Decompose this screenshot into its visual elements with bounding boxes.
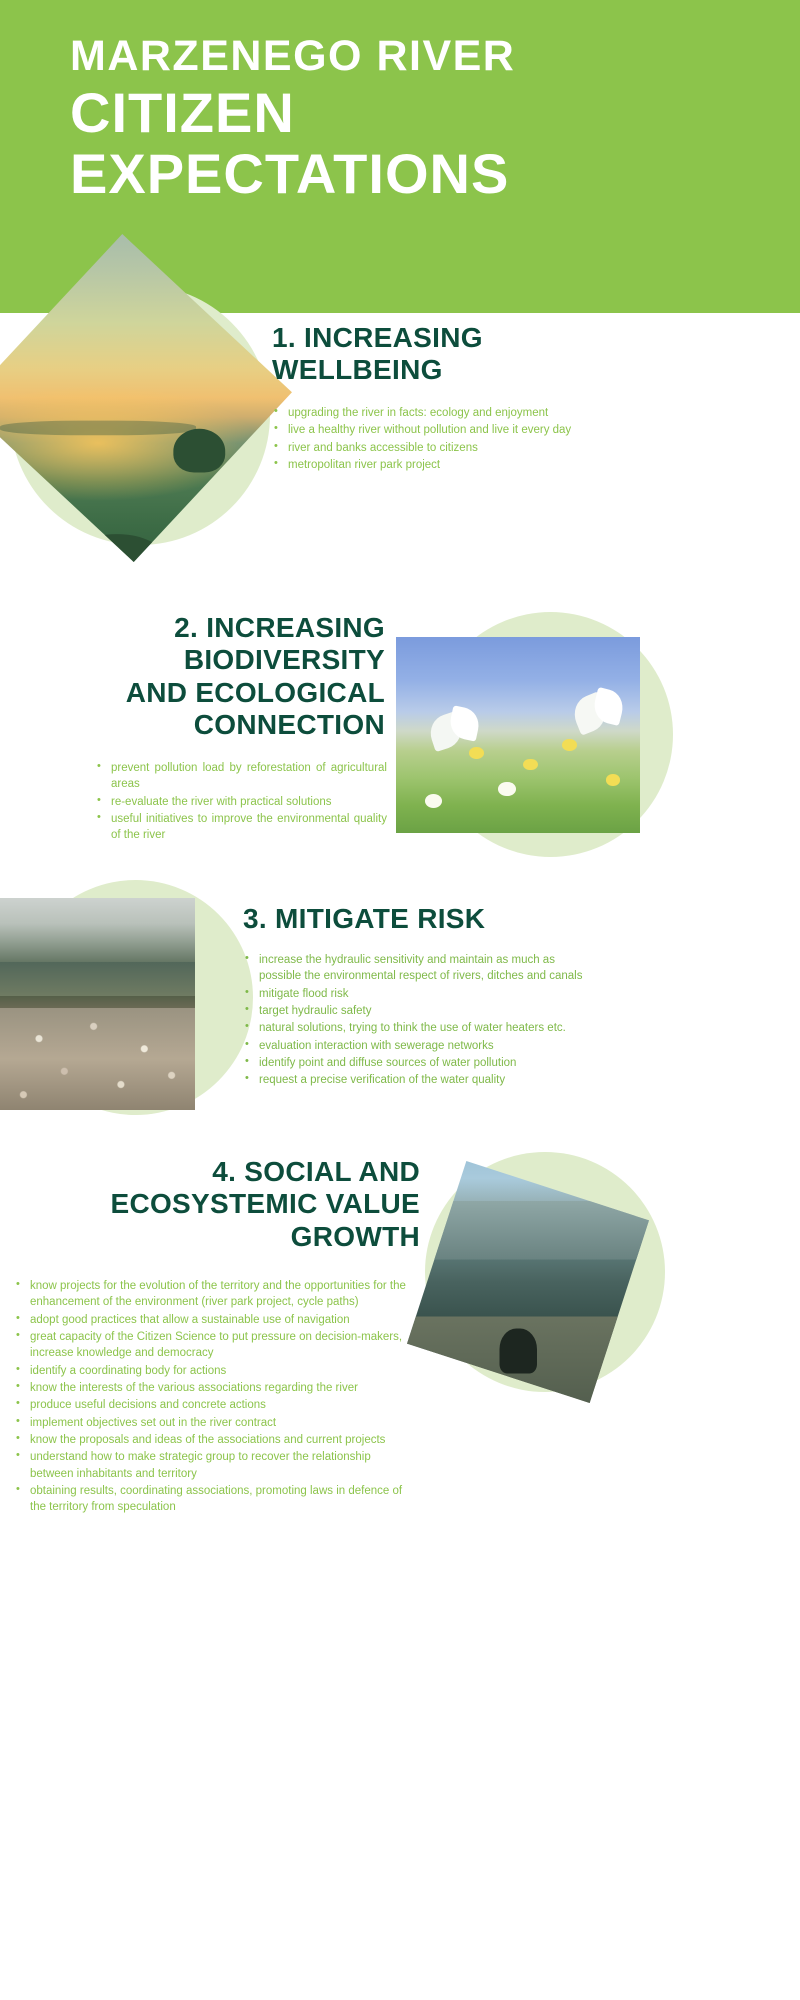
section-2-title: 2. INCREASING BIODIVERSITY AND ECOLOGICA… (60, 612, 385, 742)
list-item: re-evaluate the river with practical sol… (95, 794, 387, 810)
header-line-3: EXPECTATIONS (70, 144, 760, 204)
section-3-title: 3. MITIGATE RISK (243, 903, 583, 935)
section-4-title: 4. SOCIAL AND ECOSYSTEMIC VALUE GROWTH (40, 1156, 420, 1253)
list-item: produce useful decisions and concrete ac… (14, 1397, 414, 1413)
section-3-polluted-riverbank-litter-photo (0, 898, 195, 1110)
section-1-title: 1. INCREASING WELLBEING (272, 322, 602, 387)
list-item: request a precise verification of the wa… (243, 1072, 593, 1088)
header-line-1: MARZENEGO RIVER (70, 34, 760, 79)
list-item: know the proposals and ideas of the asso… (14, 1432, 414, 1448)
list-item: increase the hydraulic sensitivity and m… (243, 952, 593, 985)
list-item: target hydraulic safety (243, 1003, 593, 1019)
section-2-bullet-list: prevent pollution load by reforestation … (95, 760, 387, 845)
list-item: great capacity of the Citizen Science to… (14, 1329, 414, 1362)
list-item: understand how to make strategic group t… (14, 1449, 414, 1482)
header-line-2: CITIZEN (70, 83, 760, 143)
section-1-bullet-list: upgrading the river in facts: ecology an… (272, 405, 572, 474)
section-2-butterflies-flowers-photo (396, 637, 640, 833)
list-item: metropolitan river park project (272, 457, 572, 473)
list-item: know the interests of the various associ… (14, 1380, 414, 1396)
section-4-bullet-list: know projects for the evolution of the t… (14, 1278, 414, 1517)
header-title-block: MARZENEGO RIVER CITIZEN EXPECTATIONS (70, 34, 760, 204)
list-item: natural solutions, trying to think the u… (243, 1020, 593, 1036)
list-item: implement objectives set out in the rive… (14, 1415, 414, 1431)
list-item: live a healthy river without pollution a… (272, 422, 572, 438)
list-item: adopt good practices that allow a sustai… (14, 1312, 414, 1328)
list-item: mitigate flood risk (243, 986, 593, 1002)
list-item: identify point and diffuse sources of wa… (243, 1055, 593, 1071)
list-item: know projects for the evolution of the t… (14, 1278, 414, 1311)
section-3-bullet-list: increase the hydraulic sensitivity and m… (243, 952, 593, 1090)
list-item: evaluation interaction with sewerage net… (243, 1038, 593, 1054)
list-item: obtaining results, coordinating associat… (14, 1483, 414, 1516)
list-item: useful initiatives to improve the enviro… (95, 811, 387, 844)
list-item: prevent pollution load by reforestation … (95, 760, 387, 793)
list-item: identify a coordinating body for actions (14, 1363, 414, 1379)
list-item: river and banks accessible to citizens (272, 440, 572, 456)
list-item: upgrading the river in facts: ecology an… (272, 405, 572, 421)
